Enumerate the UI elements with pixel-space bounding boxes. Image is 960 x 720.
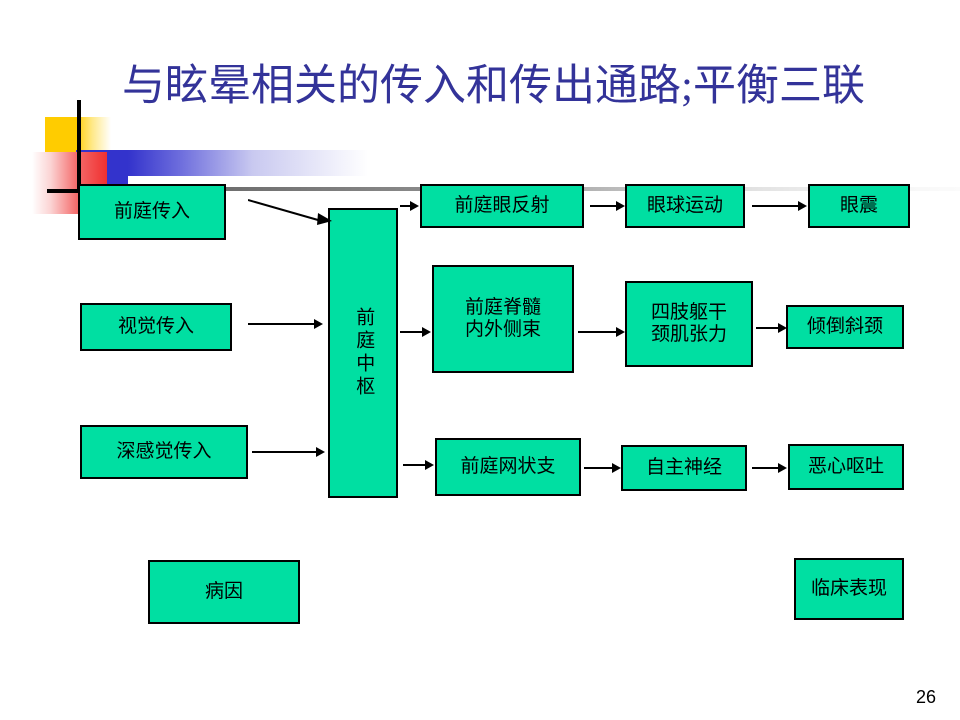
node-etiology[interactable]: 病因 [148,560,300,624]
node-vestibulospinal-tract[interactable]: 前庭脊髓 内外侧束 [432,265,574,373]
node-vestibular-input[interactable]: 前庭传入 [78,184,226,240]
page-number: 26 [916,687,936,708]
arrow-center-to-vestibulospinal [400,326,432,338]
node-eye-movement[interactable]: 眼球运动 [625,184,745,228]
node-clinical-manifestation[interactable]: 临床表现 [794,558,904,620]
arrow-visual-input-to-center [248,318,324,330]
arrow-vor-to-eye-movement [590,200,626,212]
arrow-muscle-tone-to-torticollis [756,322,788,334]
node-visual-input[interactable]: 视觉传入 [80,303,232,351]
node-vestibulo-ocular-reflex[interactable]: 前庭眼反射 [420,184,584,228]
node-vestibular-reticular-branch[interactable]: 前庭网状支 [435,438,581,496]
node-deep-sensation-input[interactable]: 深感觉传入 [80,425,248,479]
arrow-vestibulospinal-to-muscle-tone [578,326,626,338]
node-nausea-vomiting[interactable]: 恶心呕吐 [788,444,904,490]
arrow-deep-sensation-to-center [252,446,326,458]
arrow-autonomic-to-nausea [752,462,788,474]
arrow-eye-movement-to-nystagmus [752,200,808,212]
decoration-blue-fade-bar [128,150,368,176]
arrow-center-to-vor [400,200,420,212]
node-vestibular-center[interactable]: 前庭中枢 [328,208,398,498]
arrow-center-to-reticular [403,459,435,471]
node-falling-torticollis[interactable]: 倾倒斜颈 [786,305,904,349]
slide-title: 与眩晕相关的传入和传出通路;平衡三联 [122,62,934,113]
decoration-vertical-rule [77,100,81,193]
arrow-reticular-to-autonomic [584,462,622,474]
slide-canvas: 与眩晕相关的传入和传出通路;平衡三联 前庭传入 视觉传入 深感觉传入 前庭中枢 … [0,0,960,720]
arrow-vestibular-input-to-center [248,196,332,228]
node-muscle-tone[interactable]: 四肢躯干 颈肌张力 [625,281,753,367]
node-autonomic-nerve[interactable]: 自主神经 [621,445,747,491]
node-nystagmus[interactable]: 眼震 [808,184,910,228]
